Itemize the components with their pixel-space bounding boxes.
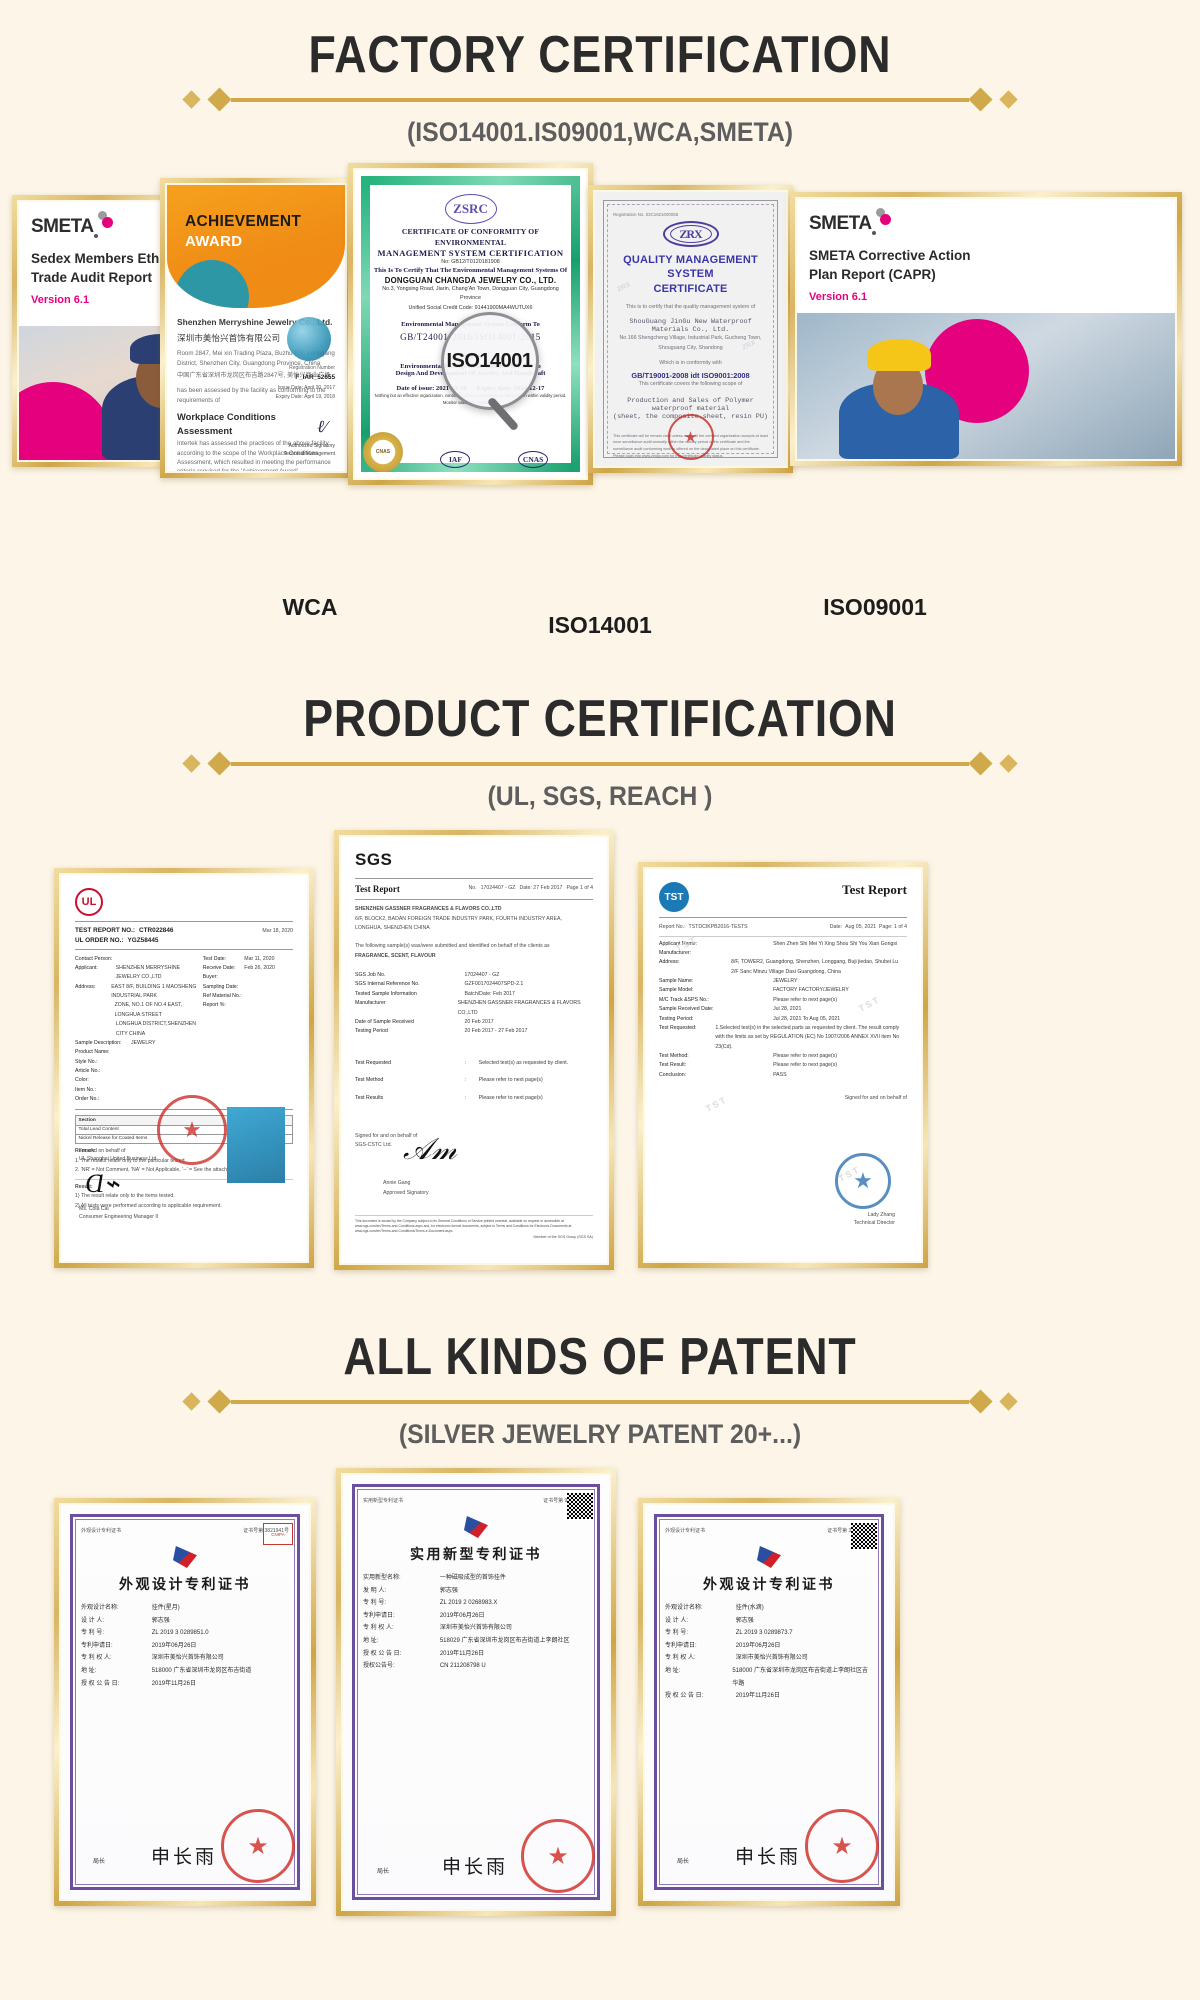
magnifier-text: ISO14001 <box>446 350 532 373</box>
iso09001-doc: Registration No. 03C1621000055 ZRX QUALI… <box>595 192 786 466</box>
field-key: Tested Sample Information <box>355 990 464 999</box>
iso09001-expiry-date: May 06, 2018 <box>736 465 768 468</box>
diamond-left-outer <box>182 1392 200 1410</box>
patent-field: 授 权 公 告 日:2019年11月26日 <box>363 1648 589 1661</box>
patent-title: 外观设计专利证书 <box>81 1574 289 1594</box>
wca-header-band: ACHIEVEMENT AWARD <box>167 185 345 308</box>
iso09001-scope-1: Production and Sales of Polymer waterpro… <box>613 397 768 413</box>
field-key: Test Method: <box>659 1052 773 1061</box>
red-seal: ★ <box>668 414 714 460</box>
patent-field: 地 址:518000 广东省深圳市龙岗区布吉街道上李朗社区吉华路 <box>665 1665 873 1690</box>
ul-red-stamp <box>157 1095 227 1165</box>
field-key: Test Requested: <box>659 1024 715 1033</box>
iso09001-conformity-label: Which is in conformity with <box>613 359 768 369</box>
patent-field: 设 计 人:郭志强 <box>81 1615 289 1628</box>
field-val: ZL 2019 2 0268983.X <box>440 1597 498 1610</box>
field-key: 地 址: <box>363 1635 440 1648</box>
caption-wca: WCA <box>250 594 370 621</box>
field-val: Please refer to next page(s) <box>479 1090 543 1108</box>
patent-red-band: CNIPA <box>263 1523 293 1545</box>
tst-field-row: Test Result:Please refer to next page(s) <box>659 1061 907 1070</box>
field-key: 设 计 人: <box>81 1615 152 1628</box>
field-val: 挂件(水滴) <box>736 1602 764 1615</box>
iso09001-expiry-label: Expiration Date: <box>695 465 733 468</box>
cert-card-wca[interactable]: ACHIEVEMENT AWARD Shenzhen Merryshine Je… <box>160 178 352 478</box>
ul-field-row: ZONE, NO.1 OF NO.4 EAST, LONGHUA STREET <box>75 1001 197 1020</box>
cert-card-patent-2[interactable]: 实用新型专利证书 证书号第 9159987号 实用新型专利证书 实用新型名称:一… <box>336 1468 616 1916</box>
divider-patent <box>185 1389 1015 1415</box>
sgs-client-line: SHENZHEN GASSNER FRAGRANCES & FLAVORS CO… <box>355 905 593 915</box>
field-key: 专利申请日: <box>665 1640 736 1653</box>
field-key: Manufacturer <box>355 999 458 1018</box>
qr-code-icon <box>567 1493 593 1519</box>
smeta-dot-small <box>872 231 876 235</box>
wca-issue-date: Issue Date: April 20, 2017 <box>278 385 335 391</box>
field-val: Please refer to next page(s) <box>773 1052 837 1061</box>
tst-date: Aug 05, 2021 <box>845 923 876 933</box>
sgs-field-row: SGS Job No.17024407 - GZ <box>355 971 593 980</box>
worker-helmet <box>867 339 931 371</box>
field-val: 518000 广东省深圳市龙岗区布吉街道上李朗社区吉华路 <box>732 1665 873 1690</box>
ul-right-field: Ref Material No.: <box>203 992 293 1001</box>
wca-doc: ACHIEVEMENT AWARD Shenzhen Merryshine Je… <box>167 185 345 471</box>
cert-card-smeta-capr[interactable]: SMETA SMETA Corrective Action Plan Repor… <box>790 192 1182 466</box>
sgs-signer-title: Approved Signatory <box>383 1189 429 1199</box>
field-key: Address: <box>75 983 111 1002</box>
wca-award-line1: ACHIEVEMENT <box>185 213 301 231</box>
field-key: Sample Name: <box>659 977 773 986</box>
diamond-right-inner <box>968 87 992 111</box>
iso09001-issue-label: Issue Date: <box>613 465 640 468</box>
ul-report-no-label: TEST REPORT NO.: <box>75 927 135 934</box>
patent-field: 实用新型名称:一种磁吸成型的首饰挂件 <box>363 1572 589 1585</box>
field-key: Sample Model: <box>659 986 773 995</box>
patent-signer-name: 申长雨 <box>151 1842 217 1869</box>
field-val: Selected test(s) as requested by client. <box>479 1055 568 1073</box>
divider-factory <box>185 87 1015 113</box>
field-key: 专 利 号: <box>81 1627 152 1640</box>
patent-field: 授权公告号:CN 211208798 U <box>363 1660 589 1673</box>
tst-field-row: Sample Model:FACTORY FACTORY/JEWELRY <box>659 986 907 995</box>
page-title-product: PRODUCT CERTIFICATION <box>84 692 1116 747</box>
field-val: 2019年11月26日 <box>736 1690 780 1703</box>
field-val: EAST 8/F, BUILDING 1 MAOSHENG INDUSTRIAL… <box>111 983 197 1002</box>
tst-field-row: Sample Name:JEWELRY <box>659 977 907 986</box>
tst-logo: TST <box>659 882 689 912</box>
diamond-left-inner <box>207 751 231 775</box>
wca-program-1: Workplace Conditions <box>177 411 335 423</box>
iso14001-cert-no: No: GB12/T0120181908 <box>371 258 570 267</box>
divider-bar <box>231 762 969 766</box>
patent-field: 专 利 号:ZL 2019 3 0289873.7 <box>665 1627 873 1640</box>
sgs-signer-name: Annie Gang <box>383 1179 410 1189</box>
tst-page: Page: 1 of 4 <box>879 923 907 933</box>
iso09001-reg-no: Registration No. 03C1621000055 <box>613 212 768 217</box>
smeta-capr-version: Version 6.1 <box>809 291 1163 303</box>
smeta-logo: SMETA <box>809 213 872 235</box>
zsrc-logo-text: ZSRC <box>445 194 497 224</box>
tst-field-row: Testing Period:Jul 28, 2021 To Aug 05, 2… <box>659 1015 907 1024</box>
sgs-sample-intro: The following sample(s) was/were submitt… <box>355 942 593 952</box>
ul-test-report: UL TEST REPORT NO.: CTR022846 Mar 18, 20… <box>61 875 307 1261</box>
zrx-logo-text: ZRX <box>663 221 719 247</box>
ul-field-row: Article No.: <box>75 1067 197 1076</box>
field-val: 518000 广东省深圳市龙岗区布吉街道 <box>152 1665 252 1678</box>
field-key: Color: <box>75 1076 131 1085</box>
field-key: 地 址: <box>81 1665 152 1678</box>
field-val: 17024407 - GZ <box>464 971 499 980</box>
patent-title: 实用新型专利证书 <box>363 1544 589 1564</box>
ul-date: Mar 18, 2020 <box>262 927 293 937</box>
wca-globe-icon <box>287 317 331 361</box>
field-val: LONGHUA DISTRICT,SHENZHEN CITY CHINA <box>116 1020 197 1039</box>
field-val: 2019年06月26日 <box>152 1640 197 1653</box>
iso09001-scope-label: This certificate covers the following sc… <box>613 380 768 390</box>
caption-iso09001: ISO09001 <box>805 594 945 621</box>
patent-field: 地 址:518029 广东省深圳市龙岗区布吉街道上李朗社区 <box>363 1635 589 1648</box>
cnipa-logo-icon <box>168 1544 202 1570</box>
field-key: 专 利 权 人: <box>81 1652 152 1665</box>
sgs-signed-for: Signed for and on behalf of <box>355 1132 593 1142</box>
iso09001-issue-date: May 07, 2015 <box>643 465 675 468</box>
ul-logo: UL <box>75 888 103 916</box>
field-key: Style No.: <box>75 1058 131 1067</box>
field-key: Item No.: <box>75 1086 131 1095</box>
divider-bar <box>231 1400 969 1404</box>
wca-signature: ℓ⁄ <box>317 417 327 437</box>
patent-signer-name: 申长雨 <box>442 1852 508 1879</box>
smeta-capr-title-1: SMETA Corrective Action <box>809 247 1163 266</box>
field-val: Mar 11, 2020 <box>244 955 274 964</box>
field-key: Sampling Date: <box>203 983 245 992</box>
diamond-right-outer <box>999 754 1017 772</box>
patent-red-seal: ★ <box>221 1809 295 1883</box>
field-key: Conclusion: <box>659 1071 773 1080</box>
patent-type-small: 外观设计专利证书 <box>665 1527 705 1534</box>
patent-field: 设 计 人:郭志强 <box>665 1615 873 1628</box>
field-val: 2019年06月26日 <box>440 1610 485 1623</box>
tst-field-row: Test Requested:1.Selected test(s) in the… <box>659 1024 907 1052</box>
diamond-left-inner <box>207 1389 231 1413</box>
field-val: 一种磁吸成型的首饰挂件 <box>440 1572 506 1585</box>
smeta-logo-text: SMETA <box>809 213 872 234</box>
field-key: 发 明 人: <box>363 1585 440 1598</box>
iso14001-province: Province <box>371 294 570 303</box>
zsrc-logo: ZSRC <box>445 194 497 224</box>
sgs-footer-note: This document is issued by the Company s… <box>355 1219 593 1234</box>
ul-right-field: Receive Date:Feb 26, 2020 <box>203 964 293 973</box>
field-val: 郭志强 <box>152 1615 170 1628</box>
smeta-dot-pink <box>880 214 891 225</box>
sgs-member-note: Member of the SGS Group (SGS SA) <box>355 1234 593 1241</box>
field-val: Jul 28, 2021 <box>773 1005 801 1014</box>
patent-field: 发 明 人:郭志强 <box>363 1585 589 1598</box>
field-val: 518029 广东省深圳市龙岗区布吉街道上李朗社区 <box>440 1635 570 1648</box>
iso09001-title-1: QUALITY MANAGEMENT SYSTEM <box>613 253 768 282</box>
field-val: Feb 26, 2020 <box>244 964 275 973</box>
field-key: 设 计 人: <box>665 1615 736 1628</box>
smeta-dot-small <box>94 234 98 238</box>
ul-order-label: UL ORDER NO.: <box>75 937 124 944</box>
smeta-logo-text: SMETA <box>31 216 94 237</box>
diamond-right-inner <box>968 1389 992 1413</box>
patent-field: 外观设计名称:挂件(星月) <box>81 1602 289 1615</box>
patent-red-seal: ★ <box>805 1809 879 1883</box>
field-val: 2019年11月26日 <box>152 1678 196 1691</box>
field-key: 外观设计名称: <box>81 1602 152 1615</box>
diamond-left-outer <box>182 754 200 772</box>
wca-signer-title: Technical Management <box>284 451 335 457</box>
ul-order-no: YGZ58445 <box>128 937 159 944</box>
cert-card-iso14001[interactable]: ZSRC CERTIFICATE OF CONFORMITY OF ENVIRO… <box>348 163 593 485</box>
sgs-report-no: 17024407 - GZ <box>481 884 516 894</box>
smeta-capr-title-2: Plan Report (CAPR) <box>809 266 1163 285</box>
field-key: 专利申请日: <box>81 1640 152 1653</box>
patent-field: 授 权 公 告 日:2019年11月26日 <box>81 1678 289 1691</box>
field-val: Please refer to next page(s) <box>773 996 837 1005</box>
diamond-right-outer <box>999 90 1017 108</box>
section-subtitle-factory: (ISO14001.IS09001,WCA,SMETA) <box>48 117 1152 148</box>
patent-field: 专 利 权 人:深圳市美怡兴首饰有限公司 <box>665 1652 873 1665</box>
cert-card-tst-report[interactable]: TST Test Report Report No.: TSTDCIKPB201… <box>638 862 928 1268</box>
diamond-left-outer <box>182 90 200 108</box>
field-val: 郭志强 <box>440 1585 458 1598</box>
field-key <box>75 1001 115 1020</box>
sgs-report-no-label: No. <box>468 884 476 894</box>
field-key: Test Results <box>355 1090 464 1108</box>
iso14001-certify-text: This Is To Certify That The Environmenta… <box>371 267 570 274</box>
diamond-left-inner <box>207 87 231 111</box>
field-key: 实用新型名称: <box>363 1572 440 1585</box>
patent-doc-2: 实用新型专利证书 证书号第 9159987号 实用新型专利证书 实用新型名称:一… <box>343 1475 609 1909</box>
iso14001-credit-code: Unified Social Credit Code: 91441900MA4W… <box>371 304 570 313</box>
field-val: PASS <box>773 1071 786 1080</box>
sgs-logo: SGS <box>355 850 593 870</box>
tst-field-row: Test Method:Please refer to next page(s) <box>659 1052 907 1061</box>
sgs-field-row: SGS Internal Reference No.GZF0017024407S… <box>355 980 593 989</box>
diamond-right-inner <box>968 751 992 775</box>
field-val: 2019年06月26日 <box>736 1640 781 1653</box>
ul-signer-title: Consumer Engineering Manager II <box>79 1213 158 1223</box>
section-header-product: PRODUCT CERTIFICATION (UL, SGS, REACH ) <box>0 692 1200 812</box>
ul-field-row: Item No.: <box>75 1086 197 1095</box>
tst-field-row: Manufacturer: <box>659 949 907 958</box>
field-key: Article No.: <box>75 1067 131 1076</box>
tst-signer-title: Technical Director <box>854 1219 895 1229</box>
accreditation-badges: IAF CNAS <box>355 451 586 468</box>
sgs-field-row: Testing Period20 Feb 2017 - 27 Feb 2017 <box>355 1027 593 1036</box>
field-key: Receive Date: <box>203 964 245 973</box>
field-val: CN 211208798 U <box>440 1660 486 1673</box>
ul-field-row: Sample Description:JEWELRY <box>75 1039 197 1048</box>
smeta-capr-photo <box>797 313 1175 459</box>
smeta-capr-doc: SMETA SMETA Corrective Action Plan Repor… <box>797 199 1175 459</box>
field-val: JEWELRY <box>131 1039 155 1048</box>
page-title-factory: FACTORY CERTIFICATION <box>84 28 1116 83</box>
sgs-result-row: Test Method:Please refer to next page(s) <box>355 1072 593 1090</box>
field-val: 深圳市美怡兴首饰有限公司 <box>736 1652 808 1665</box>
ul-field-row: Applicant:SHENZHEN MERRYSHINE JEWELRY CO… <box>75 964 197 983</box>
ul-report-no: CTR022846 <box>139 927 173 934</box>
sgs-result-row: Test Requested:Selected test(s) as reque… <box>355 1055 593 1073</box>
sample-swatch <box>227 1107 285 1183</box>
field-key: 专 利 号: <box>665 1627 736 1640</box>
ul-field-row: Address:EAST 8/F, BUILDING 1 MAOSHENG IN… <box>75 983 197 1002</box>
wca-expiry-date: Expiry Date: April 19, 2018 <box>276 394 335 400</box>
zrx-logo: ZRX <box>663 221 719 247</box>
sgs-field-row: Tested Sample InformationBatch/Date: Feb… <box>355 990 593 999</box>
field-val: Shen Zhen Shi Mei Yi Xing Shou Shi You X… <box>773 940 897 949</box>
field-key: Ref Material No.: <box>203 992 245 1001</box>
patent-field: 外观设计名称:挂件(水滴) <box>665 1602 873 1615</box>
ul-right-field: Buyer: <box>203 973 293 982</box>
cert-card-ul-report[interactable]: UL TEST REPORT NO.: CTR022846 Mar 18, 20… <box>54 868 314 1268</box>
field-val: ZONE, NO.1 OF NO.4 EAST, LONGHUA STREET <box>115 1001 197 1020</box>
patent-signer-name: 申长雨 <box>735 1842 801 1869</box>
field-key: 外观设计名称: <box>665 1602 736 1615</box>
field-key: Contact Person: <box>75 955 131 964</box>
patent-title: 外观设计专利证书 <box>665 1574 873 1594</box>
patent-field: 专利申请日:2019年06月26日 <box>81 1640 289 1653</box>
field-val: 8/F, TOWER2, Guangdong, Shenzhen, Longga… <box>731 958 907 977</box>
sgs-client-line: LONGHUA, SHENZHEN CHINA <box>355 924 593 934</box>
field-val: Batch/Date: Feb 2017 <box>464 990 514 999</box>
iso09001-title-2: CERTIFICATE <box>613 282 768 296</box>
patent-field: 专 利 权 人:深圳市美怡兴首饰有限公司 <box>363 1622 589 1635</box>
field-key: 专 利 号: <box>363 1597 440 1610</box>
wca-award-line2: AWARD <box>185 233 242 250</box>
field-val: ZL 2019 3 0289851.0 <box>152 1627 209 1640</box>
sgs-sample-name: FRAGRANCE, SCENT, FLAVOUR <box>355 952 593 962</box>
sgs-result-row: Test Results:Please refer to next page(s… <box>355 1090 593 1108</box>
iso14001-title-1: CERTIFICATE OF CONFORMITY OF ENVIRONMENT… <box>371 226 570 248</box>
field-val: ZL 2019 3 0289873.7 <box>736 1627 793 1640</box>
iso14001-title-2: MANAGEMENT SYSTEM CERTIFICATION <box>371 248 570 258</box>
section-header-factory: FACTORY CERTIFICATION (ISO14001.IS09001,… <box>0 28 1200 148</box>
field-key: 专利申请日: <box>363 1610 440 1623</box>
field-key: 专 利 权 人: <box>363 1622 440 1635</box>
section-subtitle-product: (UL, SGS, REACH ) <box>48 781 1152 812</box>
field-val: Jul 28, 2021 To Aug 05, 2021 <box>773 1015 840 1024</box>
teal-circle <box>175 260 249 308</box>
field-key: 授权公告号: <box>363 1660 440 1673</box>
cert-card-iso09001[interactable]: Registration No. 03C1621000055 ZRX QUALI… <box>588 185 793 473</box>
cert-card-patent-1[interactable]: 外观设计专利证书 证书号第 3821941号 外观设计专利证书 外观设计名称:挂… <box>54 1498 316 1906</box>
cnipa-logo-icon <box>459 1514 493 1540</box>
ul-field-row: Contact Person: <box>75 955 197 964</box>
field-key: Test Date: <box>203 955 245 964</box>
field-val: 郭志强 <box>736 1615 754 1628</box>
section-subtitle-patent: (SILVER JEWELRY PATENT 20+...) <box>48 1419 1152 1450</box>
cnas-badge: CNAS <box>518 451 548 468</box>
field-key: Test Method <box>355 1072 464 1090</box>
field-key: Buyer: <box>203 973 245 982</box>
patent-red-seal: ★ <box>521 1819 595 1893</box>
patent-field: 授 权 公 告 日:2019年11月26日 <box>665 1690 873 1703</box>
ul-field-row: Product Name: <box>75 1048 197 1057</box>
field-val: 挂件(星月) <box>152 1602 180 1615</box>
tst-report-no-label: Report No.: <box>659 923 686 933</box>
sgs-field-row: ManufacturerSHENZHEN GASSNER FRAGRANCES … <box>355 999 593 1018</box>
tst-date-label: Date: <box>830 923 842 933</box>
patent-field: 专 利 权 人:深圳市美怡兴首饰有限公司 <box>81 1652 289 1665</box>
patent-doc-1: 外观设计专利证书 证书号第 3821941号 外观设计专利证书 外观设计名称:挂… <box>61 1505 309 1899</box>
field-key: Sample Received Date: <box>659 1005 773 1014</box>
field-key: Test Requested <box>355 1055 464 1073</box>
ul-right-field: Report %: <box>203 1001 293 1010</box>
patent-signer-label: 局长 <box>677 1856 689 1865</box>
field-val: 深圳市美怡兴首饰有限公司 <box>152 1652 224 1665</box>
ul-field-row: LONGHUA DISTRICT,SHENZHEN CITY CHINA <box>75 1020 197 1039</box>
field-key: Testing Period <box>355 1027 464 1036</box>
iso09001-company: ShouGuang JinGu New Waterproof Materials… <box>613 318 768 334</box>
divider-bar <box>231 98 969 102</box>
tst-test-report: TST Test Report Report No.: TSTDCIKPB201… <box>645 869 921 1261</box>
patent-signer-label: 局长 <box>377 1866 389 1875</box>
patent-type-small: 外观设计专利证书 <box>81 1527 121 1534</box>
wca-signer: Authorized Signatory <box>289 443 335 449</box>
field-key: Applicant: <box>75 964 116 983</box>
ul-field-row: Color: <box>75 1076 197 1085</box>
ul-right-field: Sampling Date: <box>203 983 293 992</box>
iaf-badge: IAF <box>440 451 470 468</box>
sgs-doc-title: Test Report <box>355 884 400 894</box>
field-key: Date of Sample Received <box>355 1018 464 1027</box>
smeta-logo: SMETA <box>31 216 94 238</box>
section-header-patent: ALL KINDS OF PATENT (SILVER JEWELRY PATE… <box>0 1330 1200 1450</box>
field-key: Test Result: <box>659 1061 773 1070</box>
iso14001-doc: ZSRC CERTIFICATE OF CONFORMITY OF ENVIRO… <box>355 170 586 478</box>
sgs-signed-org: SGS-CSTC Ltd. <box>355 1141 593 1151</box>
wca-reg-label: Registration Number <box>289 365 335 371</box>
magnifier-icon: ISO14001 <box>441 312 539 410</box>
sgs-field-row: Date of Sample Received20 Feb 2017 <box>355 1018 593 1027</box>
field-key: Product Name: <box>75 1048 131 1057</box>
cert-card-sgs-report[interactable]: SGS Test Report No. 17024407 - GZ Date: … <box>334 830 614 1270</box>
field-val: 深圳市美怡兴首饰有限公司 <box>440 1622 512 1635</box>
field-key: Address: <box>659 958 731 977</box>
cert-card-patent-3[interactable]: 外观设计专利证书 证书号第 3830089号 外观设计专利证书 外观设计名称:挂… <box>638 1498 900 1906</box>
field-key: Report %: <box>203 1001 245 1010</box>
field-val: 20 Feb 2017 - 27 Feb 2017 <box>464 1027 527 1036</box>
patent-type-small: 实用新型专利证书 <box>363 1497 403 1504</box>
field-key: 授 权 公 告 日: <box>363 1648 440 1661</box>
patent-field: 专利申请日:2019年06月26日 <box>665 1640 873 1653</box>
field-val: 2019年11月26日 <box>440 1648 484 1661</box>
divider-product <box>185 751 1015 777</box>
tst-doc-title: Test Report <box>842 882 907 898</box>
sgs-signature: 𝒜𝓂 <box>403 1133 457 1167</box>
ul-field-row: Style No.: <box>75 1058 197 1067</box>
patent-field: 专利申请日:2019年06月26日 <box>363 1610 589 1623</box>
sgs-test-report: SGS Test Report No. 17024407 - GZ Date: … <box>341 837 607 1263</box>
iso09001-certify-text: This is to certify that the quality mana… <box>613 303 768 313</box>
field-val: SHENZHEN GASSNER FRAGRANCES & FLAVORS CO… <box>458 999 593 1018</box>
field-key: SGS Job No. <box>355 971 464 980</box>
field-key: Sample Description: <box>75 1039 131 1048</box>
tst-signed-for: Signed for and on behalf of <box>659 1094 907 1104</box>
field-key <box>75 1020 116 1039</box>
patent-field: 地 址:518000 广东省深圳市龙岗区布吉街道 <box>81 1665 289 1678</box>
field-val: 20 Feb 2017 <box>464 1018 493 1027</box>
page-title-patent: ALL KINDS OF PATENT <box>84 1330 1116 1385</box>
sgs-date: Date: 27 Feb 2017 <box>519 884 562 894</box>
patent-signer-label: 局长 <box>93 1856 105 1865</box>
patent-field: 专 利 号:ZL 2019 2 0268983.X <box>363 1597 589 1610</box>
wca-program-2: Assessment <box>177 425 335 437</box>
field-val: FACTORY FACTORY/JEWELRY <box>773 986 849 995</box>
sgs-page: Page 1 of 4 <box>566 884 593 894</box>
